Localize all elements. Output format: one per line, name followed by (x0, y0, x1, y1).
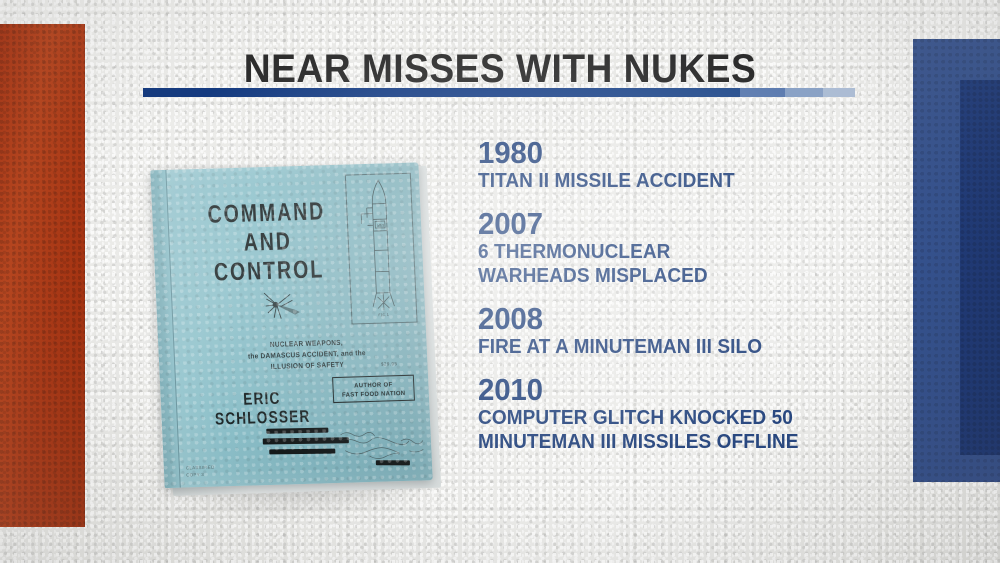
book-corner-note: CLASSIFIED COPY 3 (186, 465, 215, 479)
redaction-bar (269, 449, 335, 455)
book-spine (150, 170, 180, 488)
timeline-year: 2010 (478, 373, 858, 406)
missile-schematic-diagram: W53 FIG.1 (345, 173, 418, 325)
timeline-entry: 2010 COMPUTER GLITCH KNOCKED 50 MINUTEMA… (478, 373, 878, 454)
redaction-bar (266, 428, 328, 434)
timeline-year: 2008 (478, 302, 858, 335)
rule-segment-fade-2 (785, 88, 823, 97)
timeline-entry: 2007 6 THERMONUCLEAR WARHEADS MISPLACED (478, 207, 878, 288)
svg-text:FIG.1: FIG.1 (378, 313, 389, 317)
redaction-bar (263, 437, 349, 444)
rule-segment-fade-1 (740, 88, 785, 97)
book-title-line-3: CONTROL (200, 255, 339, 288)
book-title-text: COMMAND AND CONTROL (197, 197, 338, 288)
mosquito-icon (260, 288, 305, 321)
timeline-year: 2007 (478, 207, 858, 240)
badge-line-2: FAST FOOD NATION (334, 389, 414, 400)
handwriting-scribble (338, 426, 432, 473)
timeline-description-line: 6 THERMONUCLEAR (478, 240, 858, 264)
book-image: W53 FIG.1 COMMAND AND CONTROL NUCLEAR WE… (140, 153, 456, 516)
timeline-description-line: TITAN II MISSILE ACCIDENT (478, 169, 858, 193)
book-cover: W53 FIG.1 COMMAND AND CONTROL NUCLEAR WE… (150, 162, 432, 488)
left-red-band (0, 24, 85, 527)
author-of-badge: AUTHOR OF FAST FOOD NATION (332, 375, 415, 403)
timeline-entry: 1980 TITAN II MISSILE ACCIDENT (478, 136, 878, 193)
corner-note-line-1: CLASSIFIED (186, 465, 215, 472)
title-underline-rule (143, 88, 855, 97)
book-title-line-2: AND (198, 226, 337, 259)
book-author-name: ERIC SCHLOSSER (205, 388, 320, 429)
corner-note-line-2: COPY 3 (186, 471, 215, 478)
timeline-year: 1980 (478, 136, 858, 169)
book-price-mark: $29.95 (381, 361, 398, 366)
svg-text:W53: W53 (377, 223, 385, 228)
timeline-entry: 2008 FIRE AT A MINUTEMAN III SILO (478, 302, 878, 359)
timeline-description-line: WARHEADS MISPLACED (478, 264, 858, 288)
book-subtitle-text: NUCLEAR WEAPONS, the DAMASCUS ACCIDENT, … (225, 335, 388, 373)
rule-segment-primary (143, 88, 740, 97)
book-title-line-1: COMMAND (197, 197, 336, 230)
timeline-description-line: MINUTEMAN III MISSILES OFFLINE (478, 430, 858, 454)
timeline-description-line: COMPUTER GLITCH KNOCKED 50 (478, 406, 858, 430)
right-blue-band-inner (960, 80, 1000, 455)
near-miss-timeline-list: 1980 TITAN II MISSILE ACCIDENT 2007 6 TH… (478, 136, 878, 454)
missile-diagram-svg: W53 FIG.1 (346, 174, 417, 321)
timeline-description-line: FIRE AT A MINUTEMAN III SILO (478, 335, 858, 359)
rule-segment-fade-3 (823, 88, 855, 97)
page-title: NEAR MISSES WITH NUKES (35, 48, 965, 90)
